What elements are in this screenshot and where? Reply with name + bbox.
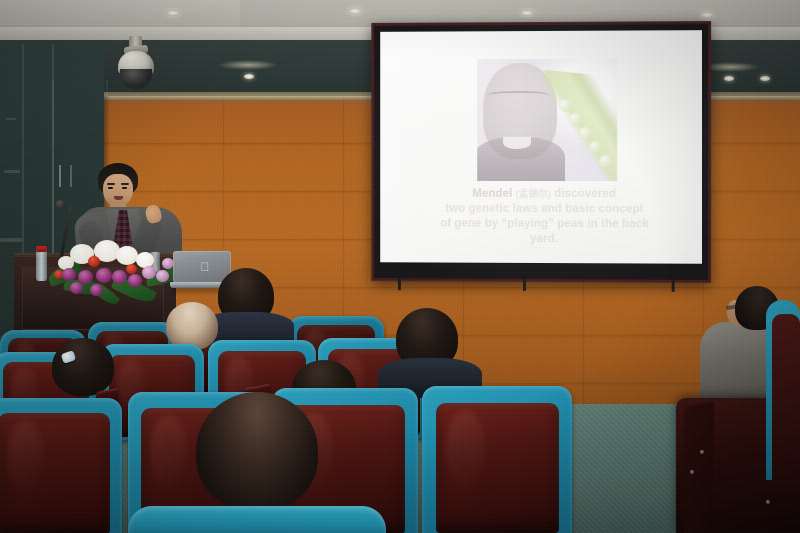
flower-arrangement xyxy=(50,240,180,302)
slide-image-mendel-portrait xyxy=(477,59,617,181)
red-flower-icon xyxy=(126,264,137,274)
screen-bracket xyxy=(398,278,401,290)
orchid-flower-icon xyxy=(96,268,112,283)
slide-line-4: yard. xyxy=(406,231,684,247)
seat-frame-foreground[interactable] xyxy=(128,506,386,533)
screen-surface: Mendel (孟德尔) discovered two genetic laws… xyxy=(380,30,702,264)
glasses-icon xyxy=(487,91,549,102)
screen-bracket xyxy=(672,280,675,292)
laptop-lid:  xyxy=(173,251,231,283)
slide-line-1: Mendel (孟德尔) discovered xyxy=(406,187,684,202)
downlight-icon xyxy=(724,76,734,81)
orchid-flower-icon xyxy=(142,266,156,279)
seat-armrest xyxy=(684,402,714,533)
wall-reflection xyxy=(0,238,22,242)
seat-bolt xyxy=(700,450,704,454)
projection-screen: Mendel (孟德尔) discovered two genetic laws… xyxy=(371,21,711,283)
screen-bracket xyxy=(523,279,526,291)
seat-highlight xyxy=(8,420,43,493)
wall-reflection xyxy=(4,170,20,173)
orchid-flower-icon xyxy=(70,282,83,294)
pea-icon xyxy=(559,99,572,112)
pea-icon xyxy=(569,113,582,126)
presenter-mouth xyxy=(114,196,123,200)
pea-icon xyxy=(579,127,592,140)
microphone-icon[interactable] xyxy=(56,200,65,209)
pea-icon xyxy=(589,141,602,154)
door-handle-icon[interactable] xyxy=(70,165,72,187)
presenter-brow xyxy=(107,183,115,185)
slide-body-text: Mendel (孟德尔) discovered two genetic laws… xyxy=(406,187,684,248)
wall-light-glow xyxy=(218,60,278,70)
orchid-flower-icon xyxy=(112,270,127,284)
downlight-icon xyxy=(348,8,362,14)
seat-highlight xyxy=(150,415,186,491)
downlight-icon xyxy=(166,10,180,16)
door-handle-icon[interactable] xyxy=(59,165,61,187)
presentation-slide: Mendel (孟德尔) discovered two genetic laws… xyxy=(400,40,690,259)
auditorium-seat[interactable] xyxy=(0,398,122,533)
orchid-flower-icon xyxy=(78,270,93,284)
water-bottle[interactable] xyxy=(36,250,47,281)
slide-line1-rest: discovered xyxy=(554,188,616,200)
red-flower-icon xyxy=(88,256,100,267)
downlight-icon xyxy=(700,12,714,18)
auditorium-seat[interactable] xyxy=(422,386,572,533)
pea-icon xyxy=(599,155,612,168)
orchid-flower-icon xyxy=(156,270,169,282)
attendee-head xyxy=(52,338,114,396)
lecture-hall-photo: Mendel (孟德尔) discovered two genetic laws… xyxy=(0,0,800,533)
seat-back-right xyxy=(772,314,800,484)
apple-logo-icon:  xyxy=(200,262,210,273)
camera-dome-lens xyxy=(120,69,152,89)
lily-flower-icon xyxy=(116,246,138,265)
bottle-cap[interactable] xyxy=(36,246,47,252)
slide-cjk-name: (孟德尔) xyxy=(516,189,551,200)
slide-line-2: two genetic laws and basic concept xyxy=(406,202,684,218)
slide-line-3: of gene by “playing” peas in the back xyxy=(406,217,684,233)
slide-lead-word: Mendel xyxy=(472,188,512,200)
seat-bolt xyxy=(766,500,770,504)
downlight-icon xyxy=(520,10,534,16)
seat-highlight xyxy=(446,410,485,489)
presenter-brow xyxy=(121,183,129,185)
downlight-icon xyxy=(760,76,770,81)
orchid-flower-icon xyxy=(90,284,103,296)
seat-bolt xyxy=(690,470,694,474)
orchid-flower-icon xyxy=(62,268,76,281)
wall-reflection xyxy=(6,118,16,120)
ceiling-camera-icon xyxy=(116,36,156,88)
presenter-eye xyxy=(108,187,113,189)
mendel-collar xyxy=(503,137,531,149)
orchid-flower-icon xyxy=(128,274,142,287)
presenter-eye xyxy=(122,187,127,189)
downlight-icon xyxy=(244,74,254,79)
attendee-head-foreground xyxy=(196,392,318,510)
ceiling-slab xyxy=(0,0,240,30)
